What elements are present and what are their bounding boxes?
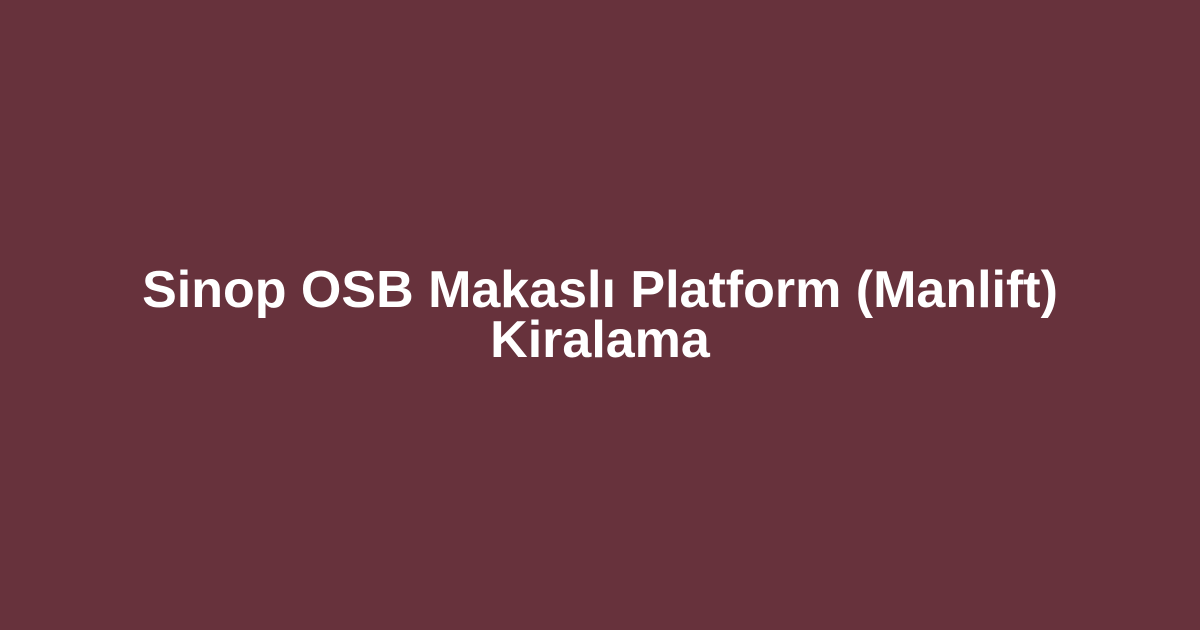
page-title: Sinop OSB Makaslı Platform (Manlift) Kir… <box>100 265 1100 365</box>
hero-content: Sinop OSB Makaslı Platform (Manlift) Kir… <box>100 265 1100 365</box>
og-share-card: Sinop OSB Makaslı Platform (Manlift) Kir… <box>0 0 1200 630</box>
